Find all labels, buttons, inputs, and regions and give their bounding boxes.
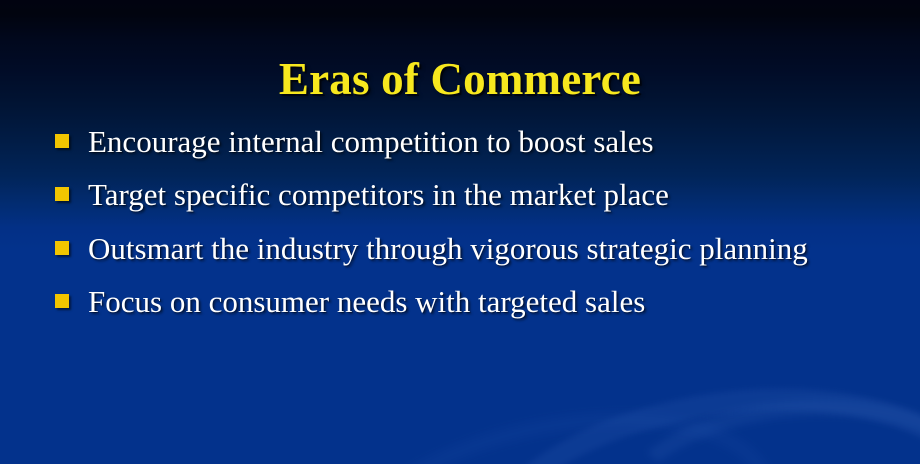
slide-title: Eras of Commerce	[0, 56, 920, 103]
list-item: Encourage internal competition to boost …	[46, 122, 896, 162]
presentation-slide: Eras of Commerce Encourage internal comp…	[0, 0, 920, 464]
filled-square-bullet-icon	[55, 294, 69, 308]
bullet-text: Focus on consumer needs with targeted sa…	[88, 282, 896, 322]
bullet-text: Encourage internal competition to boost …	[88, 122, 896, 162]
filled-square-bullet-icon	[55, 241, 69, 255]
slide-bullet-list: Encourage internal competition to boost …	[46, 122, 896, 322]
filled-square-bullet-icon	[55, 187, 69, 201]
filled-square-bullet-icon	[55, 134, 69, 148]
list-item: Focus on consumer needs with targeted sa…	[46, 282, 896, 322]
bullet-text: Target specific competitors in the marke…	[88, 175, 896, 215]
background-swoosh-decoration	[603, 387, 920, 464]
list-item: Target specific competitors in the marke…	[46, 175, 896, 215]
background-swoosh-decoration	[453, 357, 920, 464]
bullet-text: Outsmart the industry through vigorous s…	[88, 229, 896, 269]
background-swoosh-decoration	[312, 376, 796, 464]
list-item: Outsmart the industry through vigorous s…	[46, 229, 896, 269]
